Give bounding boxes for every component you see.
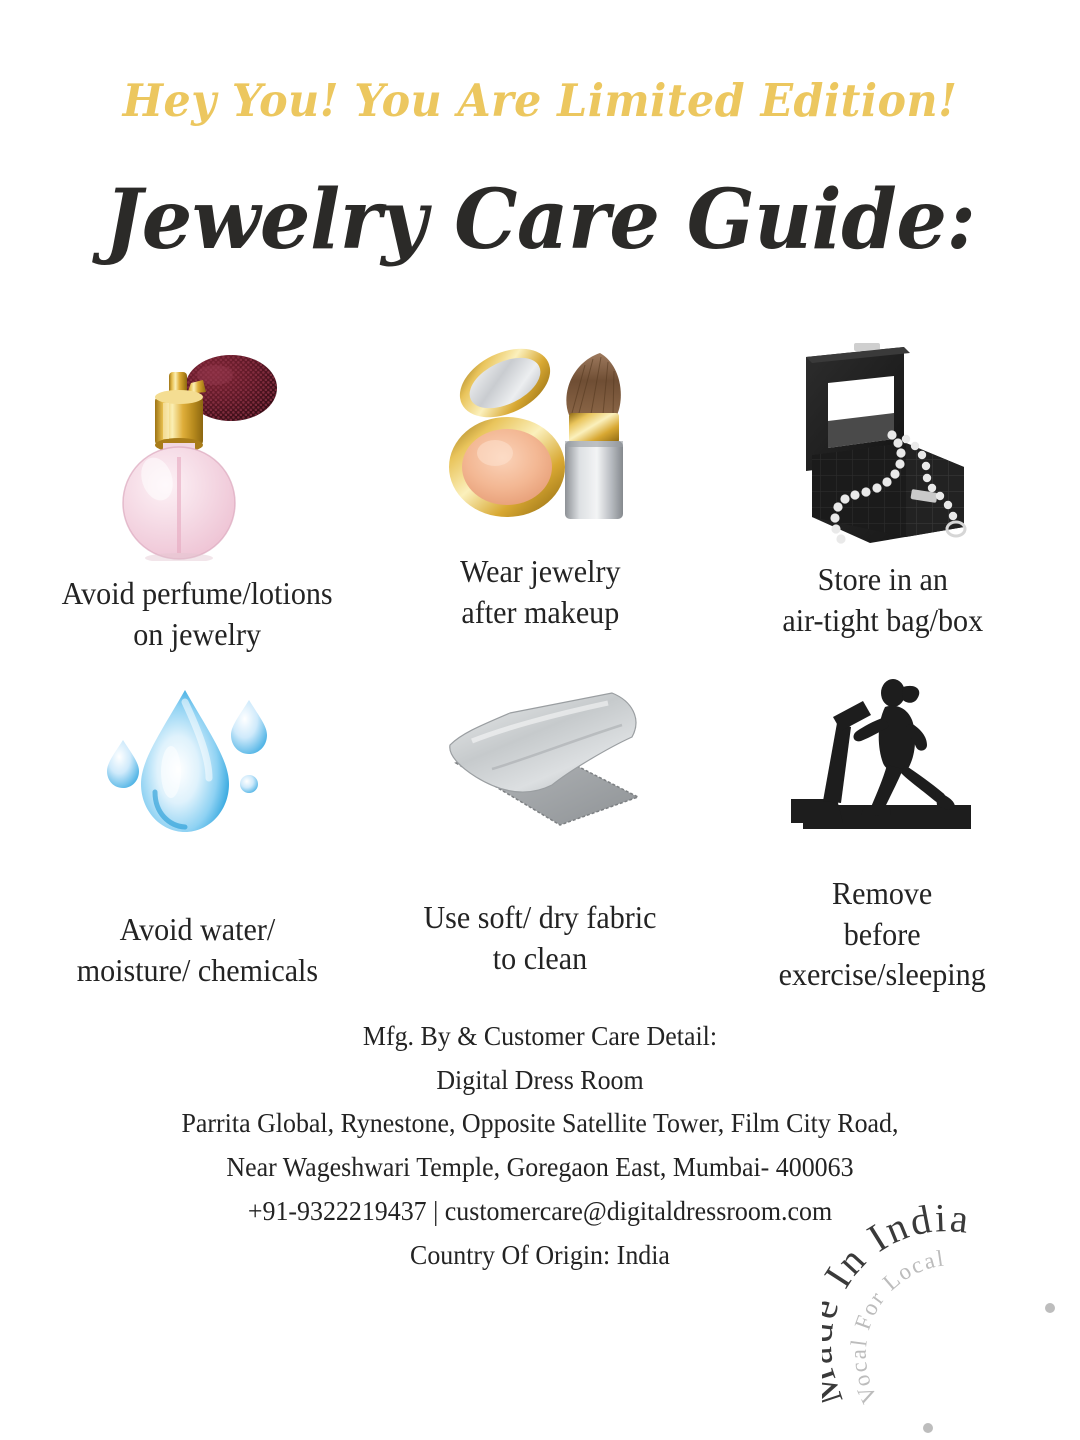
care-tip-soft-cloth: Use soft/ dry fabric to clean [369,663,712,1003]
perfume-bottle-icon [107,331,287,561]
care-tip-wear-after-makeup: Wear jewelry after makeup [369,323,712,663]
page-title: Jewelry Care Guide: [16,179,1064,261]
water-droplet-art [26,663,369,855]
care-tip-avoid-perfume: Avoid perfume/lotions on jewelry [26,323,369,663]
care-tip-caption: Avoid water/ moisture/ chemicals [77,909,318,990]
care-tip-remove-before-exercise: Remove before exercise/sleeping [711,663,1054,1003]
main-droplet [141,690,229,832]
care-tip-caption: Use soft/ dry fabric to clean [423,897,656,978]
runner-silhouette [854,679,955,815]
kicker-tagline: Hey You! You Are Limited Edition! [27,78,1053,123]
treadmill-runner-icon [785,673,980,843]
tiny-droplet [240,775,258,793]
footer-line-address1: Parrita Global, Rynestone, Opposite Sate… [22,1102,1059,1146]
footer-line-origin: Country Of Origin: India [22,1234,1059,1278]
footer-line-address2: Near Wageshwari Temple, Goregaon East, M… [22,1146,1059,1190]
treadmill-base [791,799,843,823]
care-tip-store-airtight: Store in an air-tight bag/box [711,323,1054,663]
footer-line-mfg: Mfg. By & Customer Care Detail: [22,1015,1059,1059]
page-header: Hey You! You Are Limited Edition! Jewelr… [0,0,1080,261]
gold-collar [155,390,203,452]
bottle-body [123,447,235,559]
console-post [823,723,851,803]
makeup-brush [565,353,623,519]
care-tip-caption: Remove before exercise/sleeping [779,873,986,995]
compact-mirror-lid [449,335,562,431]
badge-dot-left [923,1423,933,1433]
jewelry-box-art [711,323,1054,551]
care-tip-avoid-water: Avoid water/ moisture/ chemicals [26,663,369,1003]
footer-line-contact: +91-9322219437 | customercare@digitaldre… [22,1190,1059,1234]
footer-line-company: Digital Dress Room [22,1059,1059,1103]
care-tips-grid: Avoid perfume/lotions on jewelry [0,323,1080,1003]
small-droplet-right [231,700,267,754]
makeup-art [369,323,712,535]
badge-dot-right [1045,1303,1055,1313]
makeup-compact-brush-icon [445,335,635,535]
care-tip-caption: Avoid perfume/lotions on jewelry [62,573,333,654]
treadmill-runner-art [711,663,1054,843]
perfume-bottle-art [26,323,369,561]
small-droplet-left [107,740,139,788]
footer-contact-block: Mfg. By & Customer Care Detail: Digital … [22,1015,1059,1277]
cloth-top-layer [450,693,636,792]
jewelry-box-icon [788,331,978,551]
compact-powder-base [449,417,565,517]
microfiber-cloth-art [369,663,712,835]
water-droplet-icon [97,680,297,855]
care-tip-caption: Store in an air-tight bag/box [782,559,983,640]
care-tip-caption: Wear jewelry after makeup [460,551,620,632]
microfiber-cloth-icon [432,685,647,835]
